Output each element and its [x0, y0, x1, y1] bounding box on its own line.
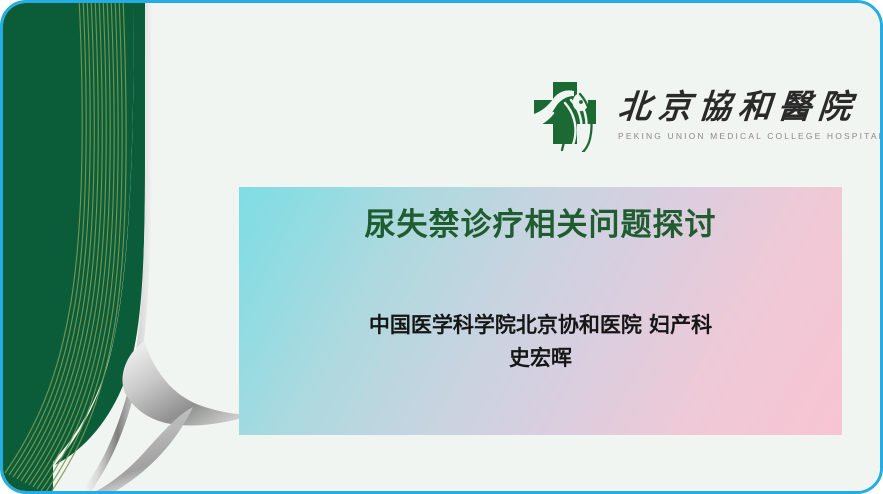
hospital-logo: 北京協和醫院 PEKING UNION MEDICAL COLLEGE HOSP…: [522, 77, 852, 155]
green-lower-lobe: [55, 3, 145, 465]
cross-dove-logo-icon: [522, 80, 608, 152]
silver-leaf-shape: [122, 341, 243, 426]
green-panel-shape: [3, 3, 134, 491]
logo-name-chinese: 北京協和醫院: [616, 91, 880, 127]
silver-ribbon-strip: [79, 3, 153, 491]
green-hairlines: [5, 3, 126, 491]
slide-subtitle: 中国医学科学院北京协和医院 妇产科 史宏晖: [239, 309, 842, 374]
logo-name-english: PEKING UNION MEDICAL COLLEGE HOSPITAL: [618, 131, 880, 141]
decoration-group: [3, 3, 243, 491]
subtitle-presenter: 史宏晖: [239, 342, 842, 375]
silver-leaf-lower: [71, 407, 193, 491]
logo-text-block: 北京協和醫院 PEKING UNION MEDICAL COLLEGE HOSP…: [618, 91, 880, 141]
slide-title: 尿失禁诊疗相关问题探讨: [239, 206, 842, 245]
subtitle-affiliation: 中国医学科学院北京协和医院 妇产科: [369, 313, 712, 337]
slide-canvas: 北京協和醫院 PEKING UNION MEDICAL COLLEGE HOSP…: [3, 3, 880, 491]
left-decoration: [3, 3, 243, 491]
title-card: 尿失禁诊疗相关问题探讨 中国医学科学院北京协和医院 妇产科 史宏晖: [239, 187, 842, 435]
presentation-slide: 北京協和醫院 PEKING UNION MEDICAL COLLEGE HOSP…: [0, 0, 883, 494]
